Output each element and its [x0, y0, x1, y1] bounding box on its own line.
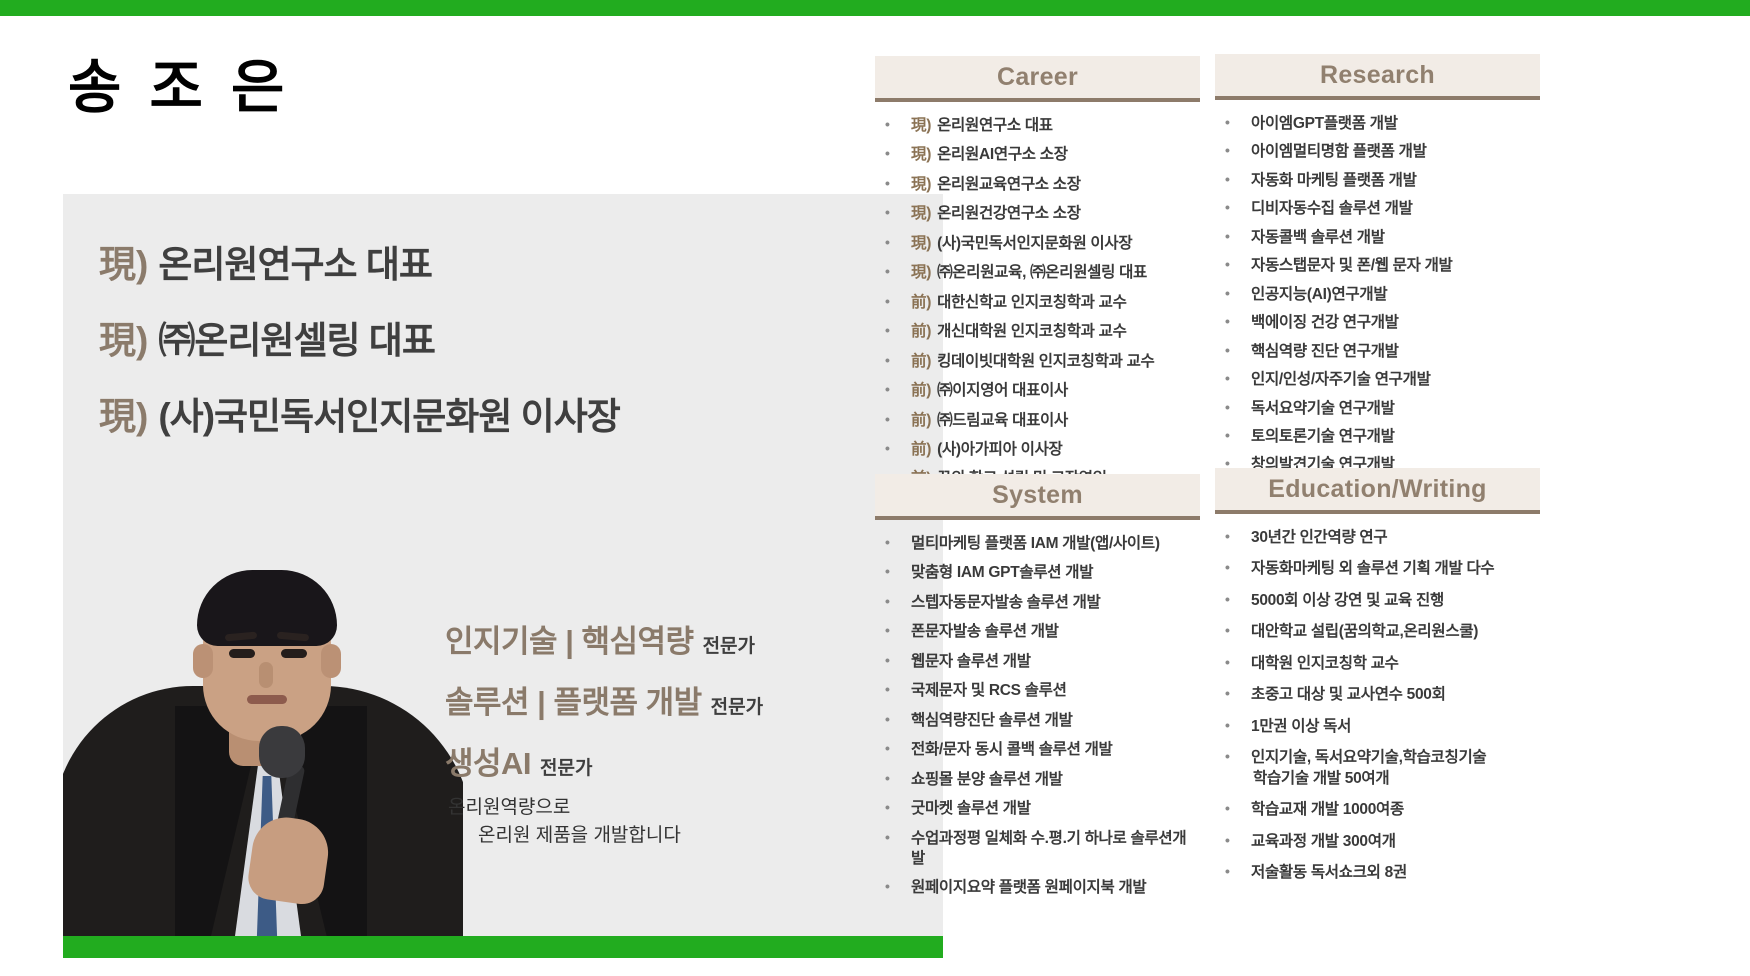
list-item-tag: 現): [911, 146, 935, 163]
list-item-text: 전화/문자 동시 콜백 솔루션 개발: [911, 741, 1113, 758]
expertise-suffix: 전문가: [540, 753, 592, 780]
expertise-label: 인지기술 | 핵심역량: [445, 616, 694, 661]
list-item-text: 수업과정평 일체화 수.평.기 하나로 솔루션개발: [911, 830, 1186, 867]
headline-item: 現) 온리원연구소 대표: [99, 234, 899, 288]
list-item-text: 대한신학교 인지코칭학과 교수: [937, 294, 1127, 311]
list-item: 現) ㈜온리원교육, ㈜온리원셀링 대표: [875, 263, 1200, 283]
list-item-text: 자동콜백 솔루션 개발: [1251, 229, 1385, 246]
expertise-suffix: 전문가: [703, 631, 755, 658]
list-item-text: 토의토론기술 연구개발: [1251, 428, 1395, 445]
list-item-text: 맞춤형 IAM GPT솔루션 개발: [911, 564, 1093, 581]
panel-career: Career 現) 온리원연구소 대표現) 온리원AI연구소 소장現) 온리원교…: [875, 56, 1200, 499]
list-item-text: 핵심역량 진단 연구개발: [1251, 343, 1399, 360]
list-item: 자동스탭문자 및 폰/웹 문자 개발: [1215, 256, 1540, 276]
list-item: 수업과정평 일체화 수.평.기 하나로 솔루션개발: [875, 829, 1200, 870]
panel-career-list: 現) 온리원연구소 대표現) 온리원AI연구소 소장現) 온리원교육연구소 소장…: [875, 116, 1200, 490]
list-item-text: 인지기술, 독서요약기술,학습코칭기술: [1251, 749, 1486, 766]
list-item-tag: 前): [911, 353, 935, 370]
list-item-text: 원페이지요약 플랫폼 원페이지북 개발: [911, 879, 1146, 896]
list-item: 전화/문자 동시 콜백 솔루션 개발: [875, 740, 1200, 760]
panel-system-underline: [875, 516, 1200, 520]
list-item: 자동콜백 솔루션 개발: [1215, 228, 1540, 248]
list-item: 대안학교 설립(꿈의학교,온리원스쿨): [1215, 622, 1540, 642]
tagline-line-2: 온리원 제품을 개발합니다: [448, 822, 918, 850]
list-item-text: 국제문자 및 RCS 솔루션: [911, 682, 1067, 699]
list-item-text: 핵심역량진단 솔루션 개발: [911, 712, 1073, 729]
list-item: 前) 킹데이빗대학원 인지코칭학과 교수: [875, 352, 1200, 372]
headline-item: 現) ㈜온리원셀링 대표: [99, 310, 899, 364]
headline-text: (사)국민독서인지문화원 이사장: [158, 386, 619, 440]
list-item-text: 멀티마케팅 플랫폼 IAM 개발(앱/사이트): [911, 535, 1160, 552]
list-item-text: 대학원 인지코칭학 교수: [1251, 655, 1399, 672]
list-item-text: ㈜온리원교육, ㈜온리원셀링 대표: [937, 264, 1147, 281]
panel-research: Research 아이엠GPT플랫폼 개발아이엠멀티명함 플랫폼 개발자동화 마…: [1215, 54, 1540, 512]
card-footer-accent: [63, 936, 943, 958]
list-item: 자동화마케팅 외 솔루션 기획 개발 다수: [1215, 559, 1540, 579]
headline-text: 온리원연구소 대표: [158, 234, 432, 288]
list-item: 아이엠GPT플랫폼 개발: [1215, 114, 1540, 134]
list-item: 독서요약기술 연구개발: [1215, 399, 1540, 419]
list-item-text: 대안학교 설립(꿈의학교,온리원스쿨): [1251, 623, 1478, 640]
list-item-text: 자동화 마케팅 플랫폼 개발: [1251, 172, 1417, 189]
list-item: 맞춤형 IAM GPT솔루션 개발: [875, 563, 1200, 583]
list-item-text: ㈜드림교육 대표이사: [937, 412, 1068, 429]
profile-card: 現) 온리원연구소 대표 現) ㈜온리원셀링 대표 現) (사)국민독서인지문화…: [63, 194, 943, 958]
list-item-text: 1만권 이상 독서: [1251, 718, 1351, 735]
panel-career-title: Career: [997, 63, 1078, 92]
list-item: 토의토론기술 연구개발: [1215, 427, 1540, 447]
list-item-tag: 現): [911, 117, 935, 134]
panel-research-list: 아이엠GPT플랫폼 개발아이엠멀티명함 플랫폼 개발자동화 마케팅 플랫폼 개발…: [1215, 114, 1540, 504]
panel-research-header: Research: [1215, 54, 1540, 96]
list-item: 교육과정 개발 300여개: [1215, 832, 1540, 852]
list-item: 멀티마케팅 플랫폼 IAM 개발(앱/사이트): [875, 534, 1200, 554]
list-item: 1만권 이상 독서: [1215, 717, 1540, 737]
list-item-tag: 現): [911, 205, 935, 222]
expertise-item: 솔루션 | 플랫폼 개발 전문가: [445, 677, 925, 722]
list-item-subtext: 학습기술 개발 50여개: [1251, 769, 1540, 789]
list-item-tag: 現): [911, 235, 935, 252]
list-item-text: 킹데이빗대학원 인지코칭학과 교수: [937, 353, 1154, 370]
avatar: [63, 516, 463, 936]
list-item: 아이엠멀티명함 플랫폼 개발: [1215, 142, 1540, 162]
list-item: 스텝자동문자발송 솔루션 개발: [875, 593, 1200, 613]
list-item-tag: 前): [911, 323, 935, 340]
list-item-text: 학습교재 개발 1000여종: [1251, 801, 1404, 818]
list-item-tag: 現): [911, 264, 935, 281]
list-item-text: 아이엠멀티명함 플랫폼 개발: [1251, 143, 1427, 160]
list-item-text: (사)아가피아 이사장: [937, 441, 1062, 458]
list-item: 쇼핑몰 분양 솔루션 개발: [875, 770, 1200, 790]
headline-tag: 現): [99, 310, 148, 364]
expertise-item: 생성AI 전문가: [445, 738, 925, 783]
list-item-text: 백에이징 건강 연구개발: [1251, 314, 1399, 331]
list-item-text: 초중고 대상 및 교사연수 500회: [1251, 686, 1446, 703]
panel-education-underline: [1215, 510, 1540, 514]
list-item: 現) 온리원교육연구소 소장: [875, 175, 1200, 195]
tagline-line-1: 온리원역량으로: [448, 797, 570, 818]
panel-career-underline: [875, 98, 1200, 102]
list-item: 디비자동수집 솔루션 개발: [1215, 199, 1540, 219]
list-item-text: 온리원AI연구소 소장: [937, 146, 1068, 163]
list-item: 국제문자 및 RCS 솔루션: [875, 681, 1200, 701]
list-item-tag: 前): [911, 412, 935, 429]
list-item: 대학원 인지코칭학 교수: [1215, 654, 1540, 674]
list-item-text: 온리원건강연구소 소장: [937, 205, 1081, 222]
top-accent-bar: [0, 0, 1750, 16]
list-item-text: 온리원교육연구소 소장: [937, 176, 1081, 193]
list-item-text: 폰문자발송 솔루션 개발: [911, 623, 1059, 640]
list-item: 저술활동 독서쇼크외 8권: [1215, 863, 1540, 883]
list-item: 인지/인성/자주기술 연구개발: [1215, 370, 1540, 390]
list-item-text: ㈜이지영어 대표이사: [937, 382, 1068, 399]
list-item-text: 웹문자 솔루션 개발: [911, 653, 1031, 670]
list-item: 핵심역량진단 솔루션 개발: [875, 711, 1200, 731]
list-item: 인공지능(AI)연구개발: [1215, 285, 1540, 305]
list-item: 학습교재 개발 1000여종: [1215, 800, 1540, 820]
list-item-text: 스텝자동문자발송 솔루션 개발: [911, 594, 1101, 611]
panel-education-header: Education/Writing: [1215, 468, 1540, 510]
page-title: 송 조 은: [68, 58, 290, 119]
list-item: 핵심역량 진단 연구개발: [1215, 342, 1540, 362]
expertise-suffix: 전문가: [711, 692, 763, 719]
list-item-tag: 現): [911, 176, 935, 193]
list-item-text: 개신대학원 인지코칭학과 교수: [937, 323, 1127, 340]
right-column: Career 現) 온리원연구소 대표現) 온리원AI연구소 소장現) 온리원교…: [870, 16, 1750, 976]
headline-tag: 現): [99, 386, 148, 440]
panel-education: Education/Writing 30년간 인간역량 연구자동화마케팅 외 솔…: [1215, 468, 1540, 894]
headline-text: ㈜온리원셀링 대표: [158, 310, 435, 364]
list-item: 인지기술, 독서요약기술,학습코칭기술학습기술 개발 50여개: [1215, 748, 1540, 789]
list-item: 前) 대한신학교 인지코칭학과 교수: [875, 293, 1200, 313]
list-item-text: 5000회 이상 강연 및 교육 진행: [1251, 592, 1444, 609]
headline-list: 現) 온리원연구소 대표 現) ㈜온리원셀링 대표 現) (사)국민독서인지문화…: [99, 234, 899, 462]
expertise-item: 인지기술 | 핵심역량 전문가: [445, 616, 925, 661]
list-item-text: 아이엠GPT플랫폼 개발: [1251, 115, 1398, 132]
list-item: 웹문자 솔루션 개발: [875, 652, 1200, 672]
panel-education-title: Education/Writing: [1268, 475, 1487, 504]
list-item-text: 디비자동수집 솔루션 개발: [1251, 200, 1413, 217]
profile-slide: 송 조 은 現) 온리원연구소 대표 現) ㈜온리원셀링 대표 現) (사)국민…: [0, 0, 1750, 976]
panel-research-title: Research: [1320, 61, 1435, 90]
list-item-tag: 前): [911, 382, 935, 399]
list-item-text: 저술활동 독서쇼크외 8권: [1251, 864, 1407, 881]
list-item: 자동화 마케팅 플랫폼 개발: [1215, 171, 1540, 191]
list-item: 굿마켓 솔루션 개발: [875, 799, 1200, 819]
panel-system-title: System: [992, 481, 1083, 510]
list-item-text: 굿마켓 솔루션 개발: [911, 800, 1031, 817]
panel-research-underline: [1215, 96, 1540, 100]
list-item: 現) 온리원연구소 대표: [875, 116, 1200, 136]
list-item-text: 자동화마케팅 외 솔루션 기획 개발 다수: [1251, 560, 1494, 577]
list-item: 現) (사)국민독서인지문화원 이사장: [875, 234, 1200, 254]
list-item-text: 자동스탭문자 및 폰/웹 문자 개발: [1251, 257, 1453, 274]
list-item-text: 인공지능(AI)연구개발: [1251, 286, 1387, 303]
panel-system: System 멀티마케팅 플랫폼 IAM 개발(앱/사이트)맞춤형 IAM GP…: [875, 474, 1200, 908]
list-item: 30년간 인간역량 연구: [1215, 528, 1540, 548]
list-item: 前) 개신대학원 인지코칭학과 교수: [875, 322, 1200, 342]
list-item: 5000회 이상 강연 및 교육 진행: [1215, 591, 1540, 611]
portrait-photo: [63, 516, 463, 936]
headline-item: 現) (사)국민독서인지문화원 이사장: [99, 386, 899, 440]
list-item-tag: 前): [911, 441, 935, 458]
list-item-text: (사)국민독서인지문화원 이사장: [937, 235, 1132, 252]
headline-tag: 現): [99, 234, 148, 288]
list-item-text: 교육과정 개발 300여개: [1251, 833, 1396, 850]
list-item: 前) ㈜이지영어 대표이사: [875, 381, 1200, 401]
list-item: 前) ㈜드림교육 대표이사: [875, 411, 1200, 431]
panel-career-header: Career: [875, 56, 1200, 98]
list-item: 폰문자발송 솔루션 개발: [875, 622, 1200, 642]
left-column: 송 조 은 現) 온리원연구소 대표 現) ㈜온리원셀링 대표 現) (사)국민…: [0, 16, 960, 976]
tagline: 온리원역량으로 온리원 제품을 개발합니다: [448, 794, 918, 849]
expertise-label: 솔루션 | 플랫폼 개발: [445, 677, 702, 722]
list-item-text: 온리원연구소 대표: [937, 117, 1053, 134]
list-item-text: 30년간 인간역량 연구: [1251, 529, 1387, 546]
list-item: 초중고 대상 및 교사연수 500회: [1215, 685, 1540, 705]
list-item: 現) 온리원건강연구소 소장: [875, 204, 1200, 224]
list-item: 원페이지요약 플랫폼 원페이지북 개발: [875, 878, 1200, 898]
list-item: 現) 온리원AI연구소 소장: [875, 145, 1200, 165]
list-item: 백에이징 건강 연구개발: [1215, 313, 1540, 333]
list-item: 前) (사)아가피아 이사장: [875, 440, 1200, 460]
list-item-tag: 前): [911, 294, 935, 311]
panel-system-header: System: [875, 474, 1200, 516]
panel-system-list: 멀티마케팅 플랫폼 IAM 개발(앱/사이트)맞춤형 IAM GPT솔루션 개발…: [875, 534, 1200, 899]
panel-education-list: 30년간 인간역량 연구자동화마케팅 외 솔루션 기획 개발 다수5000회 이…: [1215, 528, 1540, 883]
expertise-label: 생성AI: [445, 738, 531, 783]
expertise-list: 인지기술 | 핵심역량 전문가 솔루션 | 플랫폼 개발 전문가 생성AI 전문…: [445, 616, 925, 799]
list-item-text: 쇼핑몰 분양 솔루션 개발: [911, 771, 1063, 788]
list-item-text: 인지/인성/자주기술 연구개발: [1251, 371, 1431, 388]
list-item-text: 독서요약기술 연구개발: [1251, 400, 1395, 417]
